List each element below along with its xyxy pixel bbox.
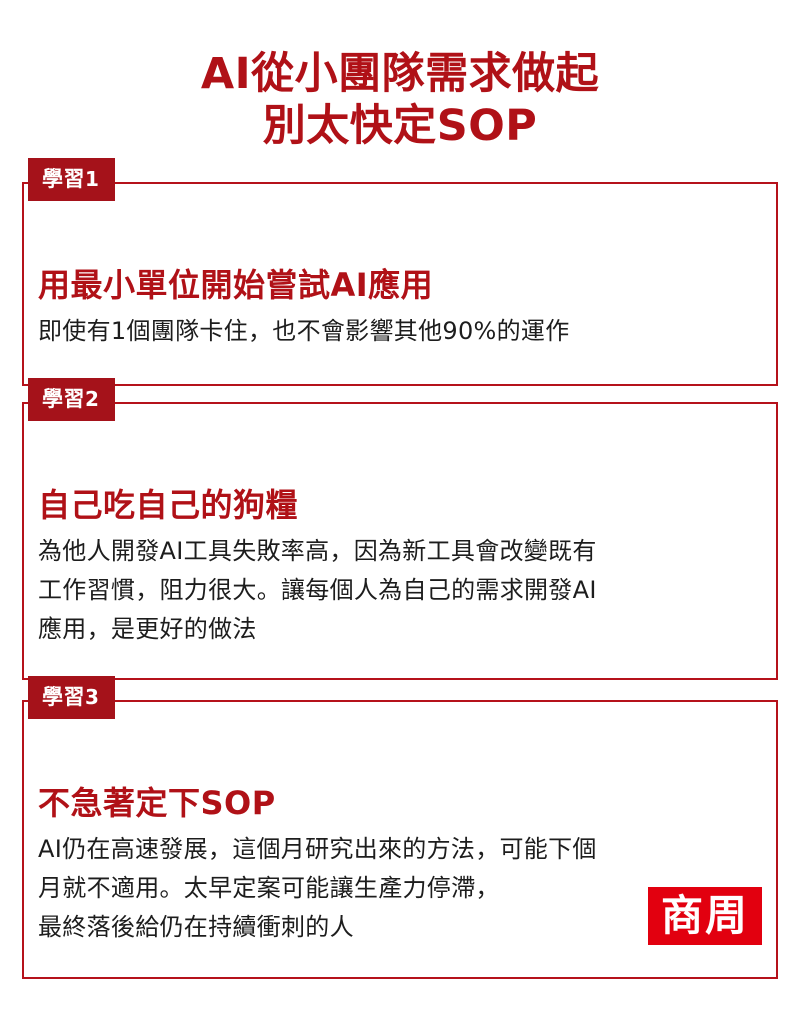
learning-badge-2-label: 學習 [42, 387, 85, 411]
learning-badge-1: 學習1 [28, 158, 115, 201]
learning-badge-3-label: 學習 [42, 685, 85, 709]
body-line: 應用，是更好的做法 [38, 610, 762, 649]
learning-badge-1-number: 1 [85, 167, 99, 191]
learning-badge-3-number: 3 [85, 685, 99, 709]
learning-card-1: 學習1 用最小單位開始嘗試AI應用 即使有1個團隊卡住，也不會影響其他90%的運… [22, 182, 778, 386]
learning-badge-1-label: 學習 [42, 167, 85, 191]
infographic-page: AI從小團隊需求做起 別太快定SOP 學習1 用最小單位開始嘗試AI應用 即使有… [0, 0, 800, 1021]
page-title-line-1: AI從小團隊需求做起 [0, 48, 800, 100]
learning-card-2: 學習2 自己吃自己的狗糧 為他人開發AI工具失敗率高，因為新工具會改變既有 工作… [22, 402, 778, 680]
learning-badge-2-number: 2 [85, 387, 99, 411]
body-line: AI仍在高速發展，這個月研究出來的方法，可能下個 [38, 830, 762, 869]
body-line: 即使有1個團隊卡住，也不會影響其他90%的運作 [38, 312, 762, 351]
learning-badge-3: 學習3 [28, 676, 115, 719]
body-line: 工作習慣，阻力很大。讓每個人為自己的需求開發AI [38, 571, 762, 610]
business-weekly-logo: 商周 [648, 887, 762, 945]
learning-card-1-heading: 用最小單位開始嘗試AI應用 [38, 266, 433, 304]
business-weekly-logo-text: 商周 [661, 895, 749, 937]
learning-card-3: 學習3 不急著定下SOP AI仍在高速發展，這個月研究出來的方法，可能下個 月就… [22, 700, 778, 979]
learning-badge-2: 學習2 [28, 378, 115, 421]
page-title: AI從小團隊需求做起 別太快定SOP [0, 48, 800, 152]
body-line: 為他人開發AI工具失敗率高，因為新工具會改變既有 [38, 532, 762, 571]
learning-card-2-body: 為他人開發AI工具失敗率高，因為新工具會改變既有 工作習慣，阻力很大。讓每個人為… [38, 532, 762, 649]
page-title-line-2: 別太快定SOP [0, 100, 800, 152]
learning-card-3-heading: 不急著定下SOP [38, 784, 276, 822]
learning-card-2-heading: 自己吃自己的狗糧 [38, 486, 298, 524]
learning-card-1-body: 即使有1個團隊卡住，也不會影響其他90%的運作 [38, 312, 762, 351]
